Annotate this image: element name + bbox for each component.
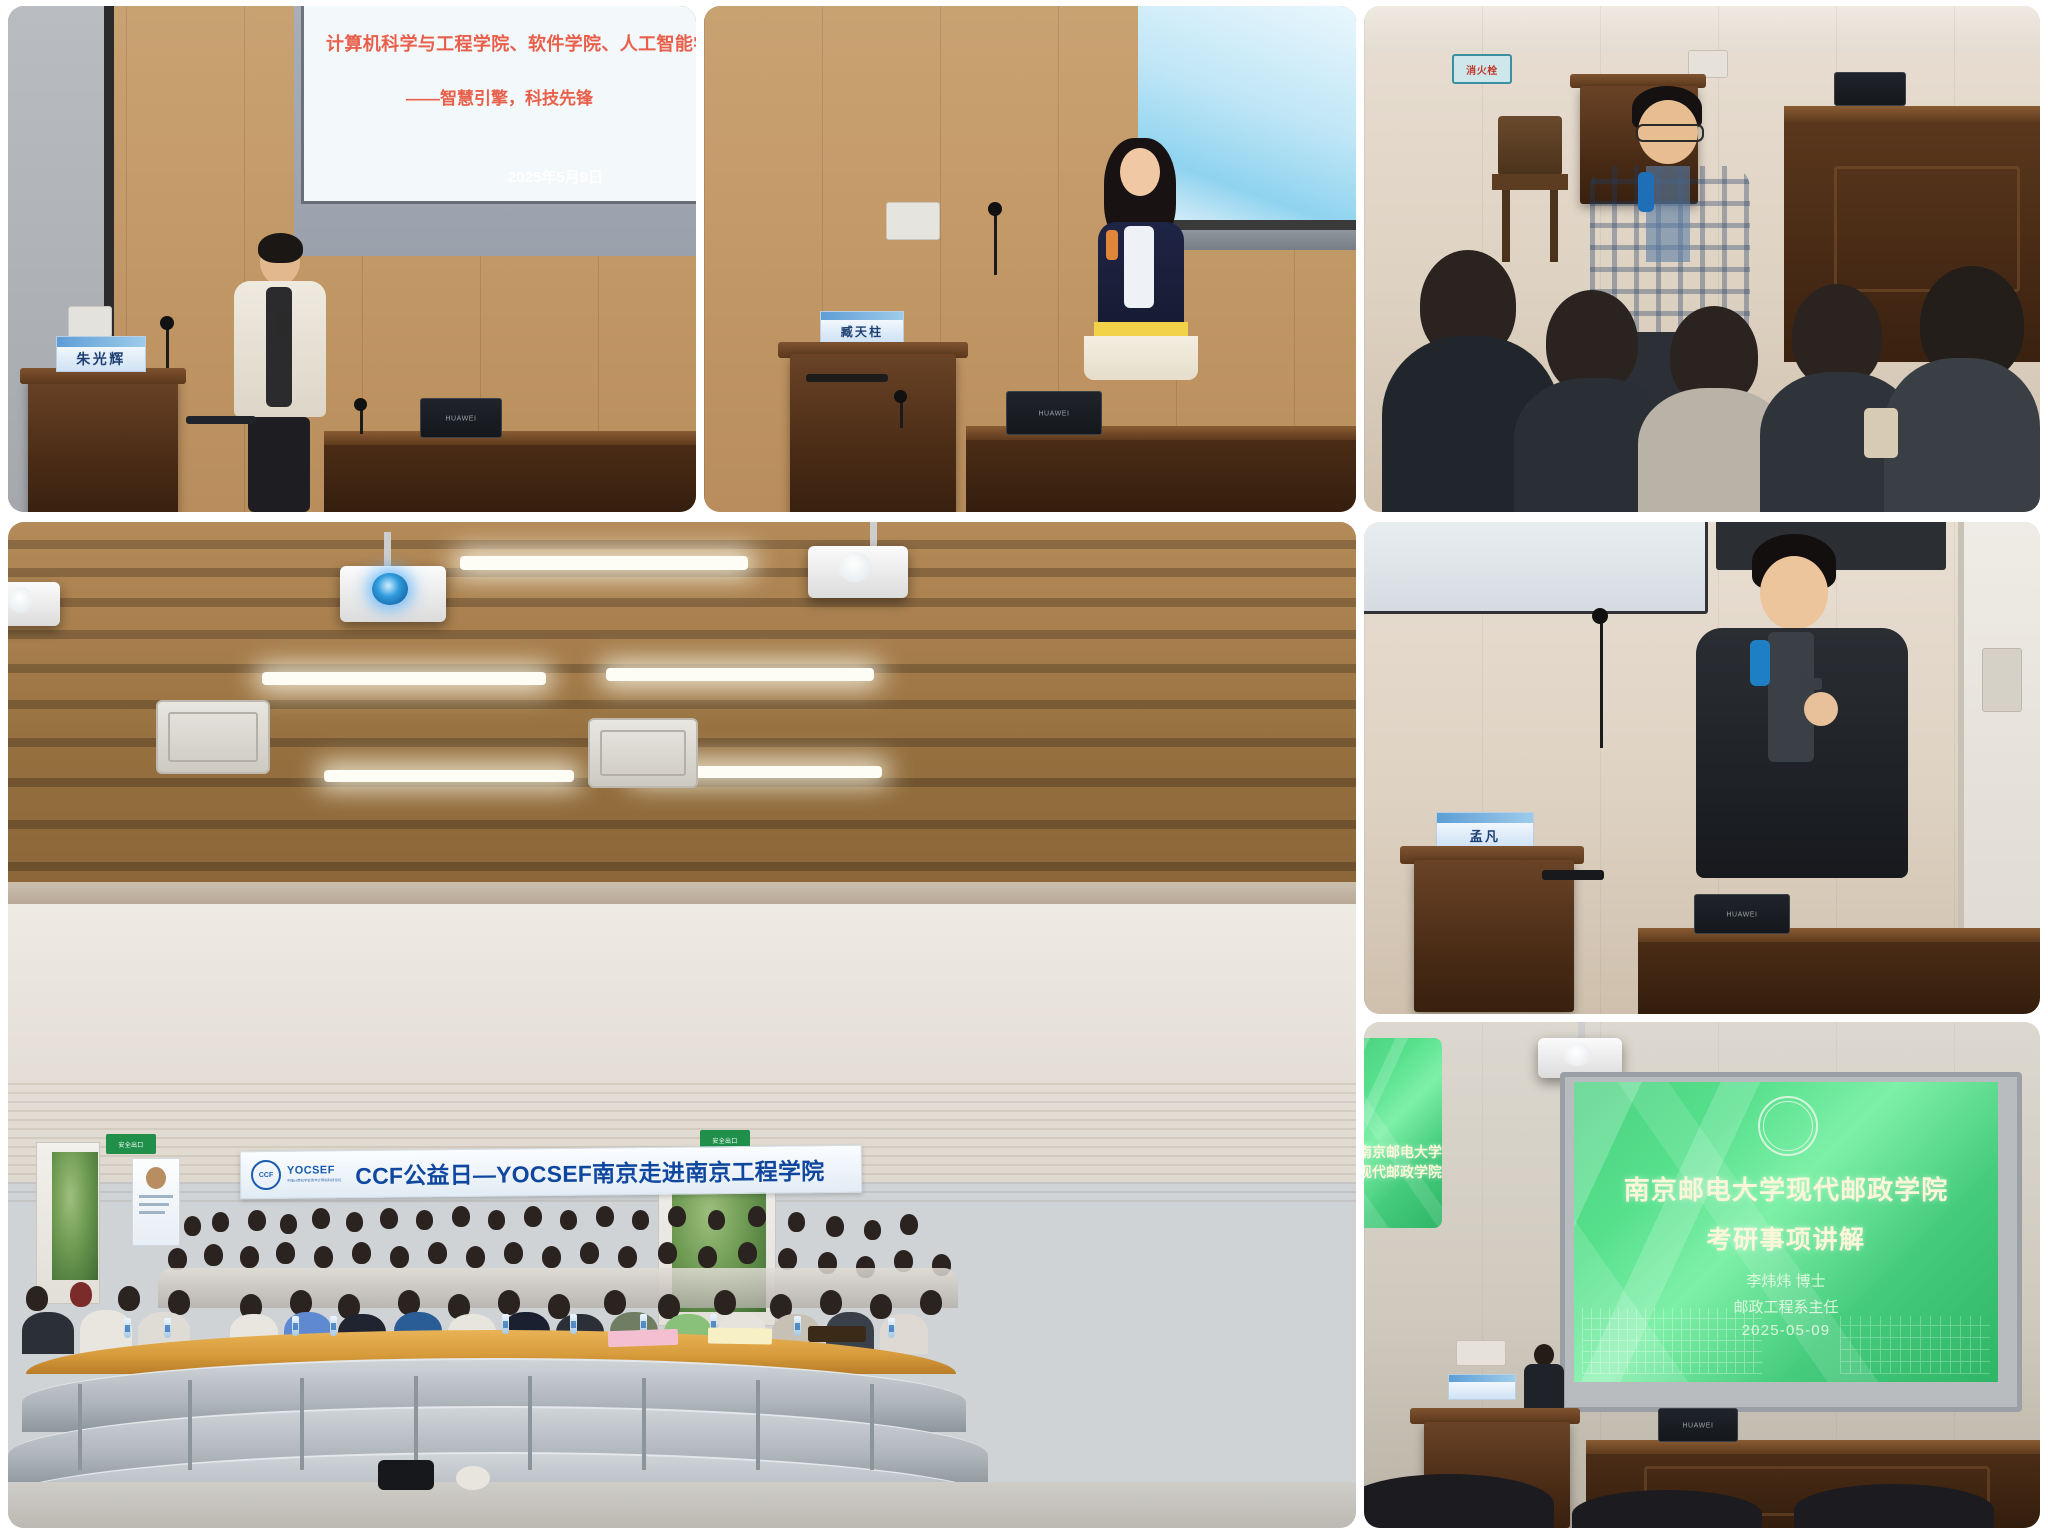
desk-front	[966, 440, 1356, 512]
panel-green-slide-presentation: 南京邮电大学现代邮政学院 南京邮电大学现代邮政学院 考研事项讲解 李炜炜 博士 …	[1364, 1022, 2040, 1528]
speaker-trousers	[248, 417, 310, 512]
laptop: HUAWEI	[420, 398, 502, 438]
lectern	[1414, 860, 1574, 1012]
projector-lens	[1563, 1043, 1592, 1066]
wall-control-panel	[1982, 648, 2022, 712]
handheld-microphone	[1750, 640, 1770, 686]
chair-leg-right	[1550, 190, 1558, 262]
student-crowd	[8, 1194, 1356, 1352]
projector-left-partial	[8, 582, 60, 626]
crowd-head	[698, 1246, 717, 1268]
crowd-head	[416, 1210, 433, 1230]
water-bottle	[330, 1316, 337, 1336]
crowd-head	[204, 1244, 223, 1266]
crowd-head	[708, 1210, 725, 1230]
crowd-head	[390, 1246, 409, 1268]
slide-presenter: 李炜炜 博士	[1574, 1270, 1998, 1291]
projector-lens	[838, 552, 872, 582]
speaker-hand	[1804, 692, 1838, 726]
wall-speaker-box	[886, 202, 940, 240]
crowd-head	[580, 1242, 599, 1264]
laptop-brand-label: HUAWEI	[1726, 911, 1757, 918]
crowd-head	[748, 1206, 766, 1227]
foreground-audience	[1794, 1484, 1994, 1528]
panel-speaker-plaid-shirt: 消火栓	[1364, 6, 2040, 512]
yocsef-logo-text: YOCSEF	[287, 1166, 335, 1178]
ceiling-slat	[8, 862, 1356, 871]
speaker-skirt	[1084, 336, 1198, 380]
slide-decoration-grid	[1840, 1316, 1990, 1374]
panel-female-speaker: 臧天柱 HUAWEI	[704, 6, 1356, 512]
laptop	[1834, 72, 1906, 106]
item-on-floor	[456, 1466, 490, 1490]
nameplate-header-bar	[821, 312, 903, 320]
chair-back	[1498, 116, 1562, 176]
nameplate: 臧天柱	[820, 311, 904, 343]
ccf-logo-icon: CCF	[251, 1160, 281, 1190]
crowd-head	[452, 1206, 470, 1227]
fire-hydrant-sign: 消火栓	[1452, 54, 1512, 84]
crowd-head	[714, 1290, 736, 1315]
desk-edge	[1784, 106, 2040, 122]
ceiling-light-tube	[262, 672, 546, 685]
crowd-head	[778, 1248, 797, 1270]
wall-cornice	[8, 882, 1356, 904]
crowd-head	[920, 1290, 942, 1315]
crowd-head	[70, 1282, 92, 1307]
handheld-microphone	[1638, 172, 1654, 212]
backpack-on-floor	[378, 1460, 434, 1490]
nameplate-header-bar	[1437, 813, 1533, 823]
lectern-controls	[1542, 870, 1604, 880]
slide-decoration-grid	[1582, 1308, 1762, 1374]
seat-divider	[642, 1378, 646, 1470]
slide-title-line2: 考研事项讲解	[1574, 1220, 1998, 1256]
photo-collage: 计算机科学与工程学院、软件学院、人工智能学院 ——智慧引擎，科技先锋 2025年…	[0, 0, 2048, 1535]
handheld-microphone	[1106, 230, 1118, 260]
secondary-green-screen: 南京邮电大学现代邮政学院	[1364, 1038, 1442, 1228]
crowd-head	[864, 1220, 881, 1240]
seat-divider	[78, 1384, 82, 1470]
water-bottle	[570, 1314, 577, 1334]
seat-divider	[870, 1384, 874, 1470]
ceiling-slat	[8, 820, 1356, 829]
coffee-cup	[1864, 408, 1898, 458]
wristwatch	[1800, 678, 1822, 690]
crowd-head	[466, 1246, 485, 1268]
lectern	[28, 376, 178, 512]
exit-sign-left: 安全出口	[106, 1134, 156, 1154]
desk-edge	[324, 431, 696, 445]
slide-date: 2025年5月9日	[508, 166, 603, 187]
crowd-head	[788, 1212, 805, 1232]
banner-logos: CCF YOCSEF 中国计算机学会青年计算机科技论坛	[251, 1159, 342, 1190]
handheld-microphone	[278, 311, 288, 337]
panel-lecture-hall-group-photo: 安全出口 安全出口 CCF YOCSEF 中国计算机学会青年计算机科技论坛 CC…	[8, 522, 1356, 1528]
projector-right	[808, 546, 908, 598]
crowd-head	[658, 1242, 677, 1264]
crowd-head	[352, 1242, 371, 1264]
wall-speaker-box	[68, 306, 112, 338]
crowd-head	[184, 1216, 201, 1236]
speaker-head	[1760, 556, 1828, 630]
event-banner: CCF YOCSEF 中国计算机学会青年计算机科技论坛 CCF公益日—YOCSE…	[240, 1145, 862, 1200]
speaker-head	[1120, 148, 1160, 196]
crowd-head	[240, 1246, 259, 1268]
crowd-head	[524, 1206, 542, 1227]
crowd-head	[312, 1208, 330, 1229]
microphone-stand	[994, 211, 997, 275]
crowd-head	[596, 1206, 614, 1227]
crowd-head	[168, 1290, 190, 1315]
ceiling-light-tube	[324, 770, 574, 782]
slide-title-line2: ——智慧引擎，科技先锋	[406, 84, 593, 109]
seat-divider	[528, 1376, 532, 1470]
crowd-head	[826, 1216, 844, 1237]
bag-on-table	[808, 1326, 866, 1342]
eyeglasses	[1636, 124, 1704, 142]
speaker-inner-shirt	[266, 287, 292, 407]
crowd-head	[168, 1248, 187, 1270]
water-bottle	[794, 1316, 801, 1336]
nameplate-text: 孟凡	[1470, 826, 1501, 845]
crowd-head	[604, 1290, 626, 1315]
speaker-inner-top	[1124, 226, 1154, 308]
slide-title-line1: 南京邮电大学现代邮政学院	[1574, 1170, 1998, 1207]
laptop-brand-label: HUAWEI	[1682, 1422, 1713, 1429]
paper-handout	[608, 1329, 679, 1347]
desk-edge	[1586, 1440, 2040, 1454]
crowd-head	[632, 1210, 649, 1230]
laptop-lid	[1834, 72, 1906, 106]
projection-screen	[1364, 522, 1708, 614]
ceiling-slat	[8, 540, 1356, 549]
audience-body	[1884, 358, 2040, 512]
desk-front	[1638, 942, 2040, 1014]
ceiling-ac-vent	[588, 718, 698, 788]
crowd-head	[498, 1290, 520, 1315]
crowd-head	[560, 1210, 577, 1230]
nameplate-text: 朱光辉	[76, 349, 126, 369]
projection-screen: 南京邮电大学现代邮政学院 考研事项讲解 李炜炜 博士 邮政工程系主任 2025-…	[1574, 1082, 1998, 1382]
crowd-head	[618, 1246, 637, 1268]
nameplate: 孟凡	[1436, 812, 1534, 848]
projector-center	[340, 566, 446, 622]
banner-title: CCF公益日—YOCSEF南京走进南京工程学院	[355, 1152, 824, 1191]
projector-lens	[372, 573, 408, 605]
water-bottle	[502, 1314, 509, 1334]
crowd-head	[346, 1212, 363, 1232]
crowd-head	[428, 1242, 447, 1264]
floor	[8, 1482, 1356, 1528]
crowd-head	[488, 1210, 505, 1230]
crowd-head	[248, 1210, 266, 1231]
ceiling-ac-vent	[156, 700, 270, 774]
water-bottle	[164, 1318, 171, 1338]
crowd-head	[212, 1212, 229, 1232]
panel-young-speaker-black-jacket: 孟凡 HUAWEI	[1364, 522, 2040, 1014]
crowd-head	[314, 1246, 333, 1268]
chair-leg-left	[1502, 190, 1510, 262]
chair-seat	[1492, 174, 1568, 190]
paper-handout	[708, 1327, 772, 1344]
crowd-head	[26, 1286, 48, 1311]
university-emblem	[1758, 1096, 1818, 1156]
nameplate	[1448, 1374, 1516, 1400]
microphone-stand	[1600, 618, 1603, 748]
water-bottle	[124, 1318, 131, 1338]
microphone-head	[988, 202, 1002, 216]
wall-control-box	[1456, 1340, 1506, 1366]
crowd-head	[820, 1290, 842, 1315]
nameplate: 朱光辉	[56, 336, 146, 372]
desk-microphone-head	[894, 390, 907, 403]
water-bottle	[888, 1318, 895, 1338]
ceiling-slat	[8, 598, 1356, 607]
crowd-head	[870, 1294, 892, 1319]
ceiling-slat	[8, 630, 1356, 639]
speaker-hair	[258, 233, 303, 263]
yocsef-logo-subtitle: 中国计算机学会青年计算机科技论坛	[287, 1179, 341, 1183]
vip-body	[22, 1312, 74, 1354]
laptop-brand-label: HUAWEI	[1038, 410, 1069, 417]
crowd-head	[380, 1208, 398, 1229]
projector-lens	[8, 587, 33, 613]
lectern-controls	[186, 416, 256, 424]
crowd-head	[738, 1242, 757, 1264]
panel-speaker-beige-jacket: 计算机科学与工程学院、软件学院、人工智能学院 ——智慧引擎，科技先锋 2025年…	[8, 6, 696, 512]
nameplate-text: 臧天柱	[841, 323, 883, 340]
lectern-controls	[806, 374, 888, 382]
ceiling-light-tube	[460, 556, 748, 570]
slide-title-line1: 计算机科学与工程学院、软件学院、人工智能学院	[326, 30, 696, 56]
speaker-person	[218, 231, 338, 512]
crowd-head	[900, 1214, 918, 1235]
laptop: HUAWEI	[1006, 391, 1102, 435]
nameplate-header-bar	[57, 337, 145, 347]
microphone-head	[160, 316, 174, 330]
desk-microphone-head	[354, 398, 367, 411]
crowd-head	[276, 1242, 295, 1264]
presenter-head	[1534, 1344, 1554, 1366]
seat-divider	[414, 1376, 418, 1470]
laptop-brand-label: HUAWEI	[445, 415, 476, 422]
crowd-head	[280, 1214, 297, 1234]
laptop: HUAWEI	[1694, 894, 1790, 934]
crowd-head	[542, 1246, 561, 1268]
crowd-head	[668, 1206, 686, 1227]
ceiling-light-tube	[606, 668, 874, 681]
secondary-screen-text: 南京邮电大学现代邮政学院	[1364, 1142, 1442, 1182]
desk-front	[324, 445, 696, 512]
nameplate-header-bar	[1449, 1375, 1515, 1382]
water-bottle	[292, 1316, 299, 1336]
seat-divider	[756, 1380, 760, 1470]
microphone-head	[1592, 608, 1608, 624]
laptop: HUAWEI	[1658, 1408, 1738, 1442]
crowd-head	[118, 1286, 140, 1311]
seat-divider	[300, 1378, 304, 1470]
poster-portrait	[146, 1167, 166, 1189]
seat-divider	[188, 1380, 192, 1470]
crowd-head	[504, 1242, 523, 1264]
speaker-person	[1072, 134, 1208, 380]
